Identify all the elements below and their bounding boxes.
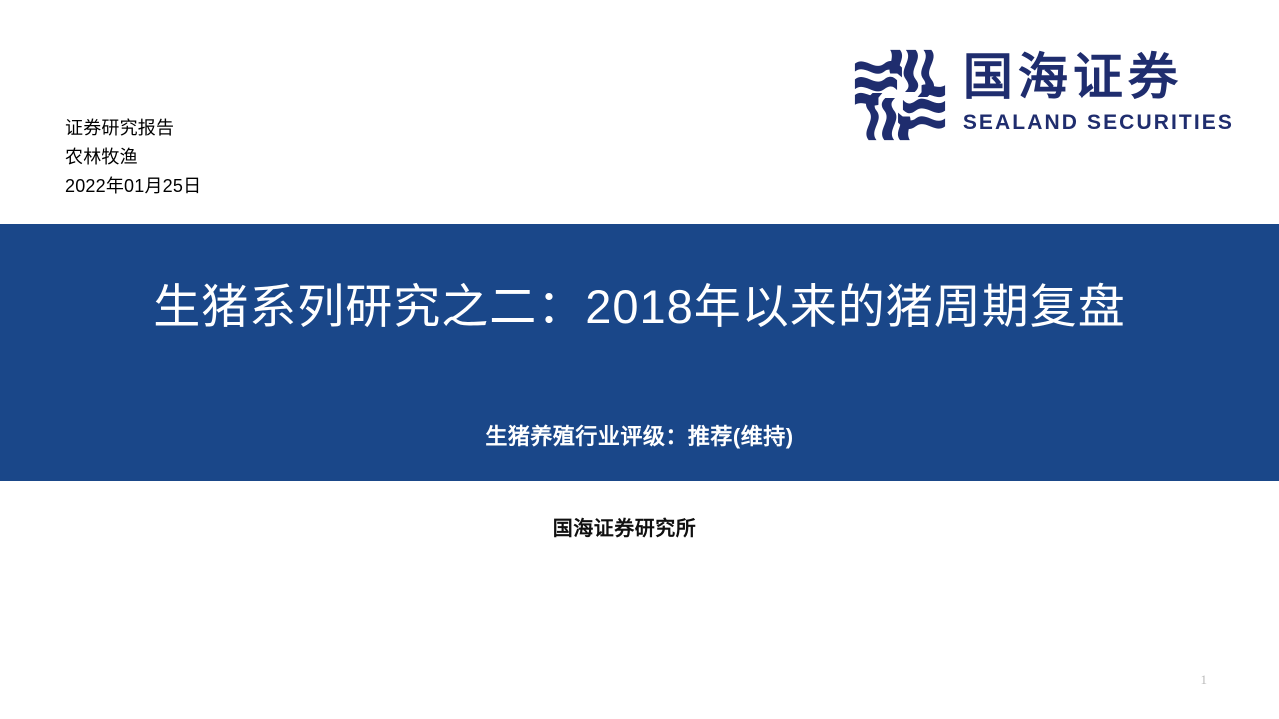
report-meta: 证券研究报告 农林牧渔 2022年01月25日 [65,114,201,201]
page-title: 生猪系列研究之二：2018年以来的猪周期复盘 [0,278,1279,336]
sealand-wave-pinwheel-logo-icon [851,46,949,144]
report-meta-line-date: 2022年01月25日 [65,172,201,201]
title-band: 生猪系列研究之二：2018年以来的猪周期复盘 生猪养殖行业评级：推荐(维持) [0,224,1279,481]
report-meta-line-industry: 农林牧渔 [65,143,201,172]
industry-rating: 生猪养殖行业评级：推荐(维持) [0,422,1279,452]
logo-english-name: SEALAND SECURITIES [963,110,1234,136]
logo-wordmark: 国海证券 SEALAND SECURITIES [963,44,1234,136]
page-number: 1 [1201,672,1208,688]
company-logo: 国海证券 SEALAND SECURITIES [851,44,1234,144]
report-meta-line-category: 证券研究报告 [65,114,201,143]
slide-header: 证券研究报告 农林牧渔 2022年01月25日 [0,0,1279,224]
research-institute-label: 国海证券研究所 [0,512,1249,541]
logo-chinese-name: 国海证券 [963,48,1234,106]
